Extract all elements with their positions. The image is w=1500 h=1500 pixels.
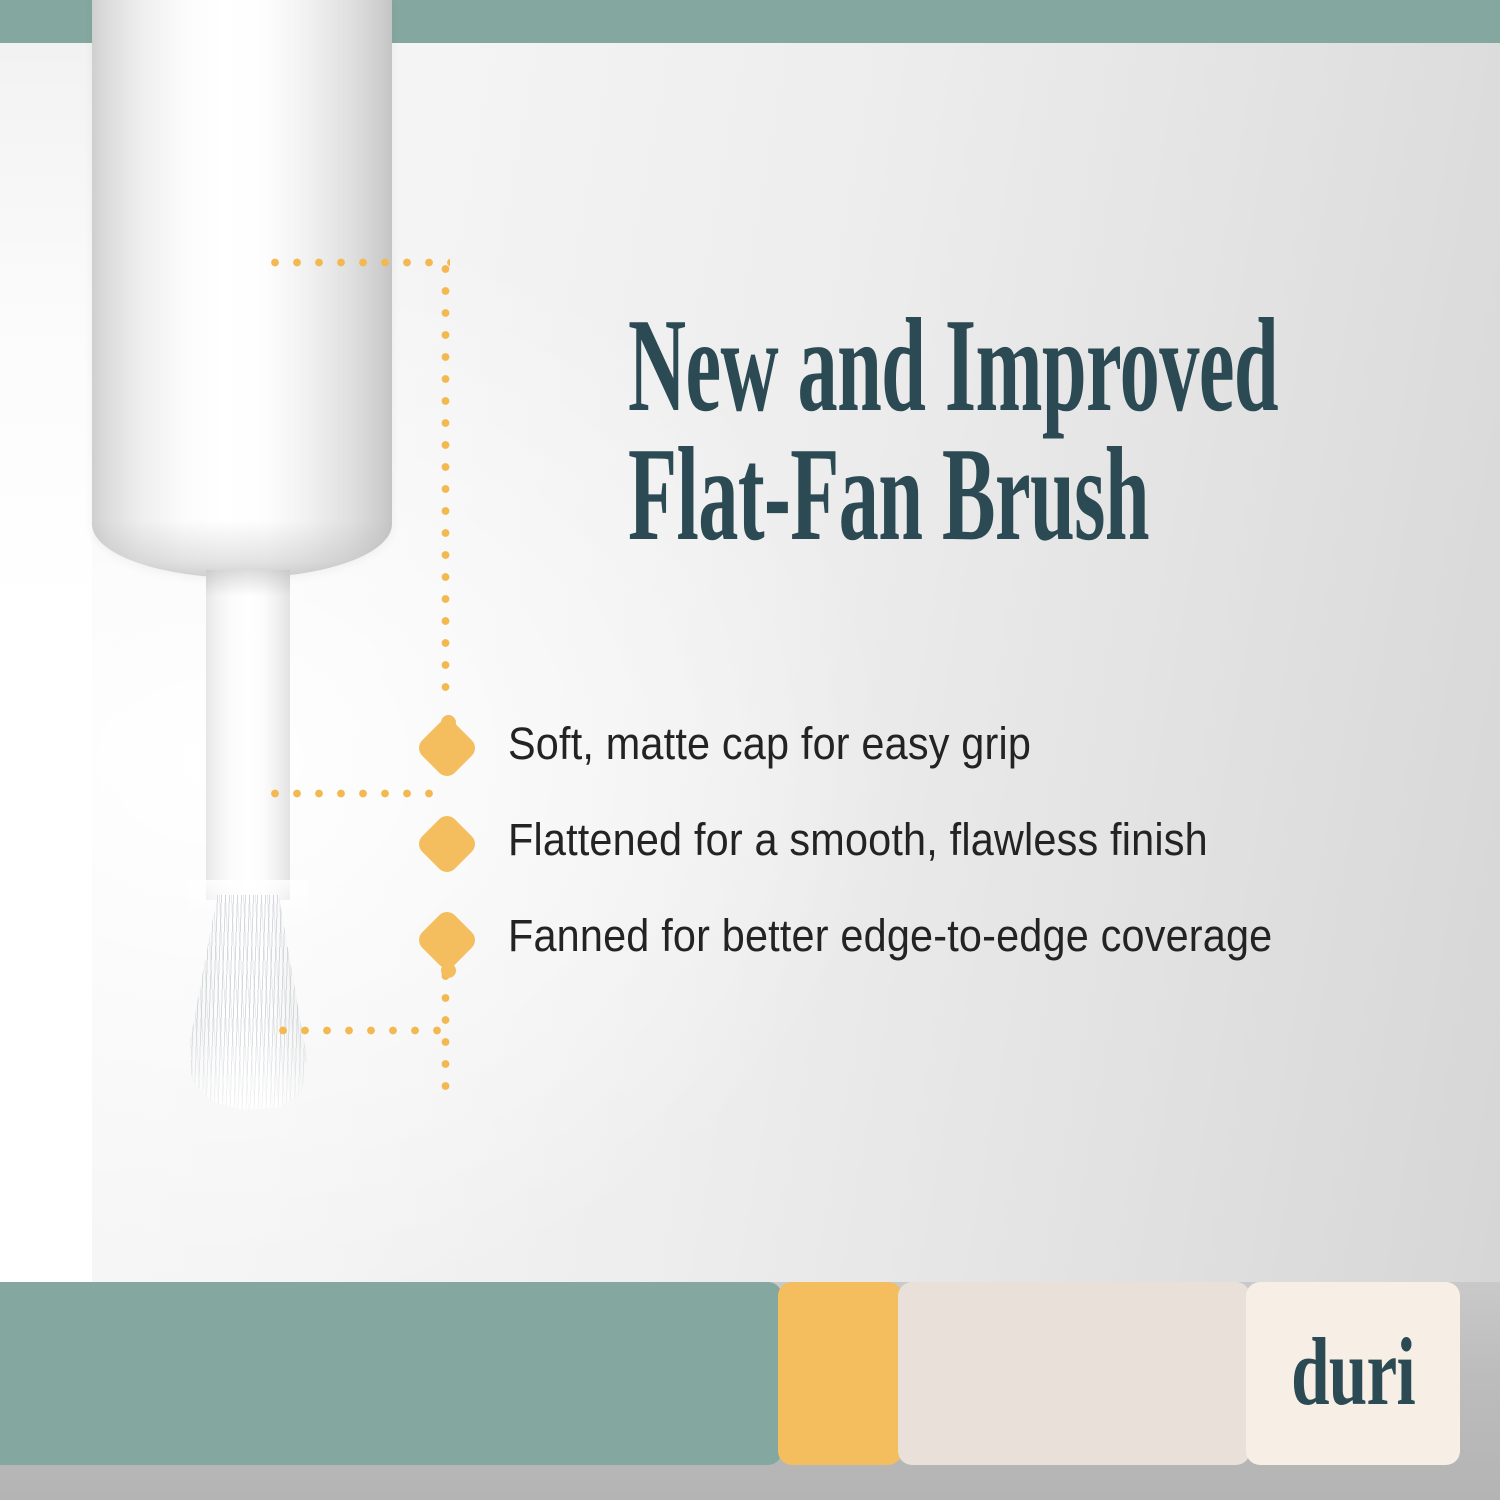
brush-cap bbox=[92, 0, 392, 578]
feature-text: Soft, matte cap for easy grip bbox=[508, 711, 1031, 777]
product-brush-image bbox=[88, 0, 408, 1150]
title-line-2: Flat-Fan Brush bbox=[628, 430, 1432, 559]
brush-stem bbox=[206, 570, 290, 900]
panel-left-highlight bbox=[0, 43, 92, 1282]
footer-beige-segment bbox=[898, 1282, 1250, 1465]
footer-bar: duri bbox=[0, 1282, 1500, 1500]
stem-callout-dotted-horizontal bbox=[264, 789, 444, 798]
title-line-1: New and Improved bbox=[628, 301, 1432, 430]
feature-text: Flattened for a smooth, flawless finish bbox=[508, 807, 1208, 873]
bristles-callout-dotted-horizontal bbox=[272, 1026, 450, 1035]
cap-callout-dotted-vertical bbox=[441, 258, 450, 698]
list-item: Soft, matte cap for easy grip bbox=[424, 711, 1464, 807]
bullet-connector-nub-top-icon bbox=[441, 715, 456, 730]
bullet-connector-nub-bottom-icon bbox=[441, 963, 456, 978]
main-panel: New and Improved Flat-Fan Brush Soft, ma… bbox=[0, 43, 1500, 1282]
ad-banner: New and Improved Flat-Fan Brush Soft, ma… bbox=[0, 0, 1500, 1500]
footer-amber-segment bbox=[778, 1282, 902, 1465]
footer-sage-segment bbox=[0, 1282, 782, 1465]
brush-stem-shadow bbox=[206, 570, 290, 596]
bullet-connector-nub-left-icon bbox=[421, 838, 436, 853]
footer-logo-segment: duri bbox=[1246, 1282, 1460, 1465]
list-item: Fanned for better edge-to-edge coverage bbox=[424, 903, 1464, 999]
feature-text: Fanned for better edge-to-edge coverage bbox=[508, 903, 1272, 969]
list-item: Flattened for a smooth, flawless finish bbox=[424, 807, 1464, 903]
page-title: New and Improved Flat-Fan Brush bbox=[628, 301, 1432, 558]
cap-callout-dotted-horizontal bbox=[264, 258, 450, 267]
brush-bristles bbox=[184, 895, 312, 1110]
feature-list: Soft, matte cap for easy grip Flattened … bbox=[424, 711, 1464, 999]
brand-logo: duri bbox=[1291, 1324, 1415, 1420]
